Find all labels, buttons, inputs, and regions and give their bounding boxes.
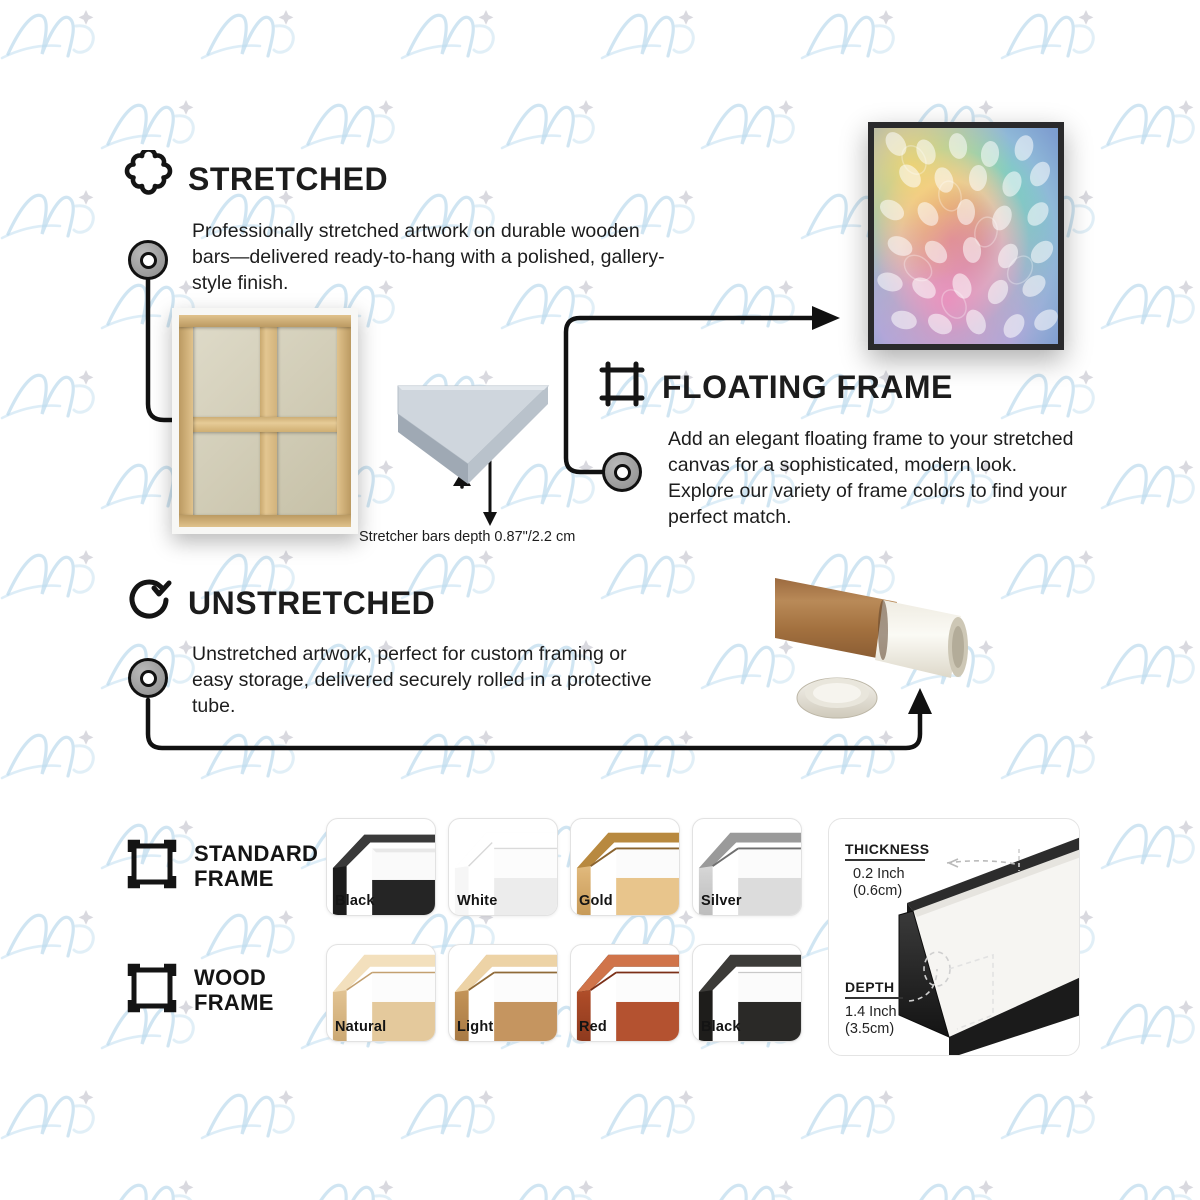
swatch-standard-black[interactable]: Black <box>326 818 436 916</box>
swatch-standard-white[interactable]: White <box>448 818 558 916</box>
depth-callout: DEPTH 1.4 Inch (3.5cm) <box>845 979 903 1037</box>
section-title-unstretched: UNSTRETCHED <box>188 587 435 619</box>
thickness-callout: THICKNESS 0.2 Inch (0.6cm) <box>845 841 930 899</box>
swatch-wood-red[interactable]: Red <box>570 944 680 1042</box>
section-title-floating-frame: FLOATING FRAME <box>662 371 953 403</box>
swatch-label: White <box>457 893 497 909</box>
section-body-floating-frame: Add an elegant floating frame to your st… <box>668 427 1076 531</box>
frame-group-standard-frame: STANDARD FRAME <box>126 838 318 895</box>
swatch-standard-silver[interactable]: Silver <box>692 818 802 916</box>
shipping-tube-photo <box>775 572 1005 737</box>
swatch-wood-black[interactable]: Black <box>692 944 802 1042</box>
swatch-label: Gold <box>579 893 613 909</box>
frame-group-title-line2: FRAME <box>194 991 274 1016</box>
circle-check-icon <box>124 575 174 630</box>
swatch-standard-gold[interactable]: Gold <box>570 818 680 916</box>
frame-crop-icon <box>126 962 178 1019</box>
frame-dimensions-card: THICKNESS 0.2 Inch (0.6cm) DEPTH 1.4 Inc… <box>828 818 1080 1056</box>
section-body-unstretched: Unstretched artwork, perfect for custom … <box>192 642 672 720</box>
swatch-label: Black <box>335 893 375 909</box>
frame-crop-icon <box>126 838 178 895</box>
depth-label: DEPTH <box>845 979 903 995</box>
section-stretched: STRETCHED Professionally stretched artwo… <box>124 150 672 297</box>
swatch-label: Silver <box>701 893 742 909</box>
wood-frame-swatch-row: Natural Light <box>326 944 802 1042</box>
frame-group-title-line1: STANDARD <box>194 842 318 867</box>
frame-group-title-line2: FRAME <box>194 867 318 892</box>
frame-group-wood-frame: WOOD FRAME <box>126 962 274 1019</box>
depth-value-cm: (3.5cm) <box>845 1021 903 1038</box>
thickness-label: THICKNESS <box>845 841 930 857</box>
swatch-label: Natural <box>335 1019 386 1035</box>
standard-frame-swatch-row: Black White Gold <box>326 818 802 916</box>
section-unstretched: UNSTRETCHED Unstretched artwork, perfect… <box>124 575 672 720</box>
thickness-value-cm: (0.6cm) <box>853 883 930 900</box>
swatch-label: Black <box>701 1019 741 1035</box>
puzzle-piece-icon <box>124 150 174 207</box>
frame-corners-icon <box>596 358 648 415</box>
swatch-label: Light <box>457 1019 493 1035</box>
swatch-wood-natural[interactable]: Natural <box>326 944 436 1042</box>
swatch-wood-light[interactable]: Light <box>448 944 558 1042</box>
stretched-canvas-photo <box>172 308 358 534</box>
frame-group-title-line1: WOOD <box>194 966 274 991</box>
section-title-stretched: STRETCHED <box>188 163 388 195</box>
connector-dot-unstretched <box>128 658 168 698</box>
section-floating-frame: FLOATING FRAME Add an elegant floating f… <box>596 358 1076 531</box>
connector-dot-stretched <box>128 240 168 280</box>
thickness-value-inch: 0.2 Inch <box>853 866 930 883</box>
stretcher-bar-illustration <box>388 368 558 508</box>
connector-dot-floating-frame <box>602 452 642 492</box>
swatch-label: Red <box>579 1019 607 1035</box>
stretcher-bars-depth-caption: Stretcher bars depth 0.87"/2.2 cm <box>359 529 575 545</box>
depth-value-inch: 1.4 Inch <box>845 1004 903 1021</box>
floating-frame-artwork-photo <box>868 122 1064 350</box>
section-body-stretched: Professionally stretched artwork on dura… <box>192 219 672 297</box>
